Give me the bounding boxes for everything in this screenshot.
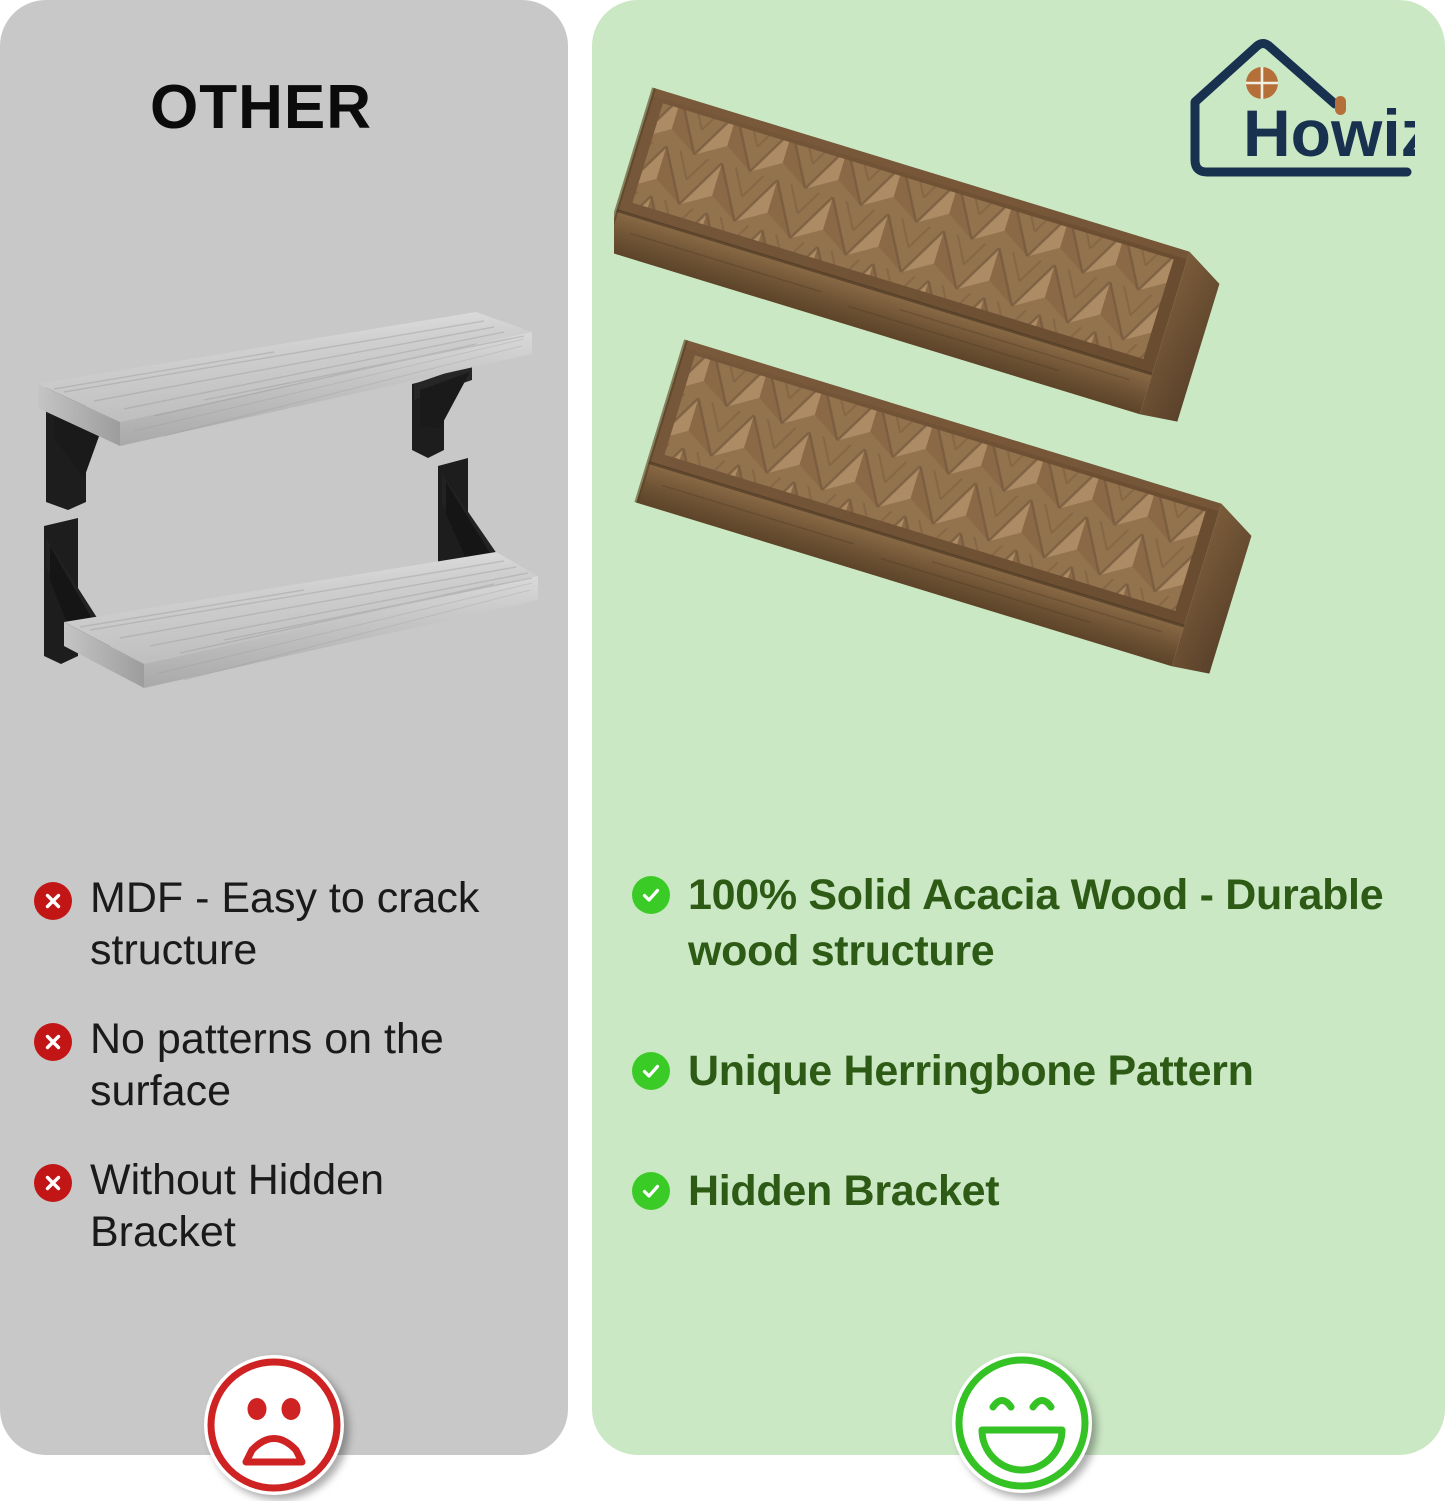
gray-mdf-shelves-image (24, 288, 546, 708)
list-item: Hidden Bracket (632, 1164, 1422, 1220)
check-circle-icon (632, 876, 670, 914)
list-item-label: No patterns on the surface (90, 1013, 534, 1117)
list-item-label: 100% Solid Acacia Wood - Durable wood st… (688, 868, 1422, 980)
list-item: MDF - Easy to crack structure (34, 872, 534, 976)
x-circle-icon (34, 882, 72, 920)
list-item: Unique Herringbone Pattern (632, 1044, 1422, 1100)
feature-list-other: MDF - Easy to crack structure No pattern… (34, 872, 534, 1258)
list-item-label: Without Hidden Bracket (90, 1154, 534, 1258)
list-item: No patterns on the surface (34, 1013, 534, 1117)
list-item-label: MDF - Easy to crack structure (90, 872, 534, 976)
sad-face-icon (198, 1349, 350, 1501)
list-item-label: Unique Herringbone Pattern (688, 1044, 1254, 1100)
comparison-infographic: OTHER (0, 0, 1445, 1496)
list-item-label: Hidden Bracket (688, 1164, 999, 1220)
feature-list-brand: 100% Solid Acacia Wood - Durable wood st… (632, 868, 1422, 1220)
acacia-herringbone-shelves-image (614, 70, 1426, 770)
check-circle-icon (632, 1172, 670, 1210)
page-title-other: OTHER (150, 72, 372, 143)
list-item: 100% Solid Acacia Wood - Durable wood st… (632, 868, 1422, 980)
happy-face-icon (946, 1347, 1098, 1499)
x-circle-icon (34, 1164, 72, 1202)
shelf-board-lower (64, 552, 538, 688)
check-circle-icon (632, 1052, 670, 1090)
list-item: Without Hidden Bracket (34, 1154, 534, 1258)
x-circle-icon (34, 1023, 72, 1061)
